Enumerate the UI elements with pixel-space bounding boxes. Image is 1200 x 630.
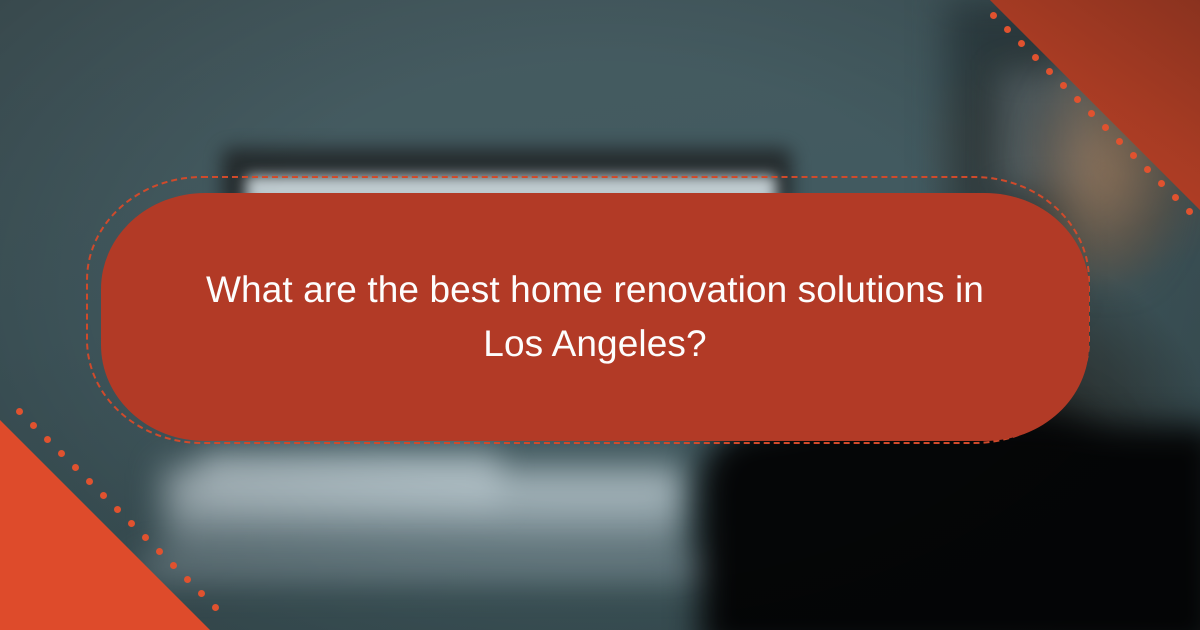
promo-banner: What are the best home renovation soluti… — [0, 0, 1200, 630]
page-title: What are the best home renovation soluti… — [195, 263, 995, 371]
question-card: What are the best home renovation soluti… — [101, 193, 1089, 441]
